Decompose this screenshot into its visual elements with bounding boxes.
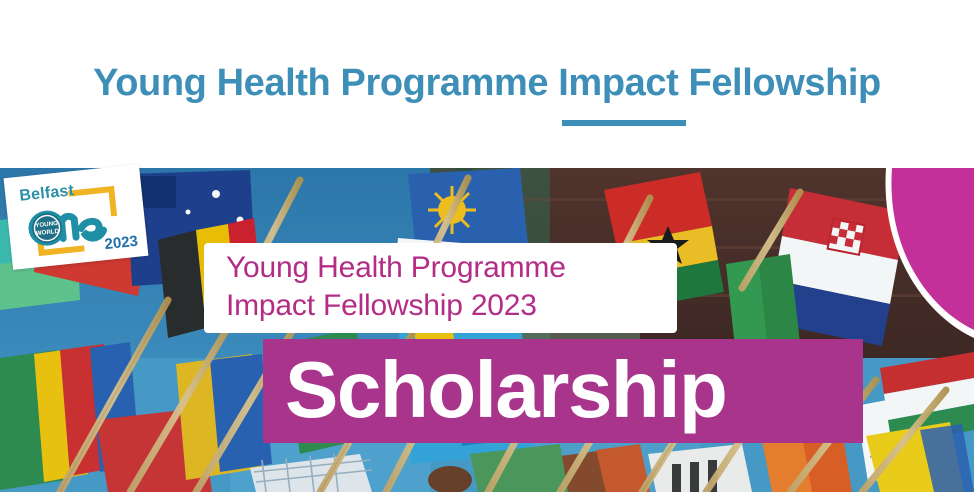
callout-line-2: Impact Fellowship 2023	[226, 289, 537, 323]
callout-line-1: Young Health Programme	[226, 251, 566, 285]
page-root: Young Health Programme Impact Fellowship	[0, 0, 974, 492]
belfast-one-logo: YOUNG WORLD Belfast 2023	[4, 164, 149, 270]
fellowship-callout-box: Young Health Programme Impact Fellowship…	[204, 243, 677, 333]
scholarship-label: Scholarship	[285, 338, 726, 442]
header-band: Young Health Programme Impact Fellowship	[0, 0, 974, 168]
logo-year-text: 2023	[104, 233, 139, 253]
belfast-one-logo-graphic: YOUNG WORLD	[4, 164, 149, 270]
scholarship-banner: Scholarship	[263, 339, 863, 443]
page-title: Young Health Programme Impact Fellowship	[0, 62, 974, 105]
title-underline	[562, 120, 686, 126]
